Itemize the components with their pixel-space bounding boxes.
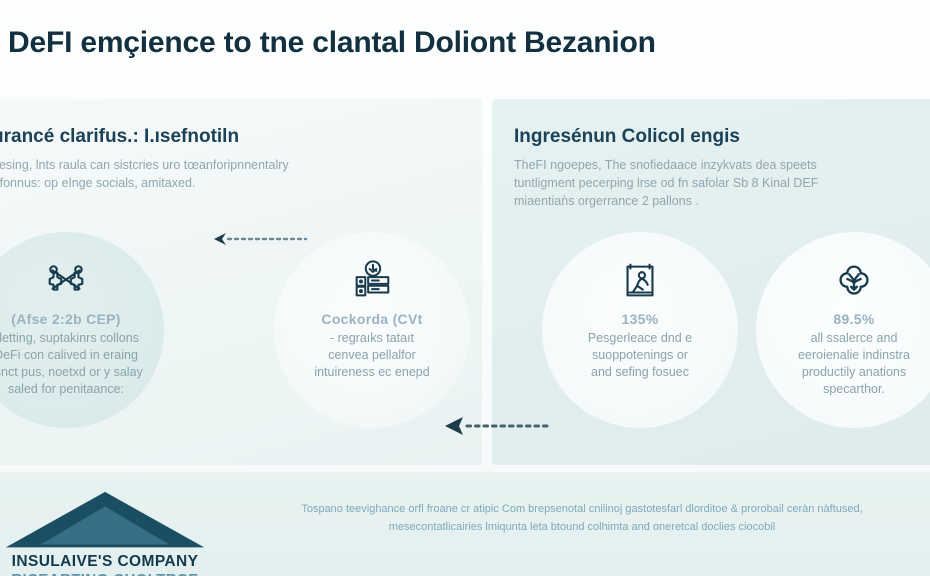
- card-text: cletting, suptakinrs collons DeFi con ca…: [0, 330, 179, 398]
- card-text-line4: saled for penitaance:: [8, 382, 124, 396]
- card-text-line2: eeroienalie indinstra: [798, 348, 910, 362]
- server-clock-icon: [349, 258, 395, 304]
- company-logo: INSULAIVE'S COMPANY RICEARTING CHOLTRCE …: [0, 489, 210, 576]
- right-panel-body-line3: miaentiaǹs orgerrance 2 pallons .: [514, 192, 916, 210]
- page-title: DeFI emçience to tne clantal Doliont Bez…: [8, 24, 908, 62]
- right-panel-body-line2: tuntligment pecerping lrse od fn safolar…: [514, 174, 916, 192]
- interlock-knot-icon: [831, 258, 877, 304]
- arrow-left-bottom: [443, 419, 555, 433]
- card-text-line2: DeFi con calived in eraing: [0, 348, 138, 362]
- card-text: all ssalerce and eeroienalie indinstra p…: [760, 330, 930, 398]
- card-text-line3: productily anations: [802, 365, 906, 379]
- right-panel-body-line1: TheFI ngoepes, The snofiedaace inzykvats…: [514, 156, 916, 174]
- card-text-line1: Pesgerleace dnd e: [588, 331, 692, 345]
- right-panel-body: TheFI ngoepes, The snofiedaace inzykvats…: [514, 156, 916, 210]
- card-text-line1: all ssalerce and: [811, 331, 898, 345]
- person-chart-icon: [617, 258, 663, 304]
- logo-company-name: INSULAIVE'S COMPANY: [0, 553, 210, 571]
- roof-triangle-icon: [0, 489, 210, 553]
- card-stat: Cockorda (CVt: [321, 310, 422, 328]
- card-crossed-keys[interactable]: (Afse 2:2b CEP) cletting, suptakinrs col…: [0, 232, 164, 428]
- left-panel-body-line1: gesing, lnts raula can sistcries uro tœa…: [0, 156, 412, 174]
- card-text-line1: - regraıks tataıt: [330, 331, 414, 345]
- right-panel: Ingresénun Colicol engis TheFI ngoepes, …: [492, 99, 930, 465]
- card-text: Pesgerleace dnd e suoppotenings or and s…: [533, 330, 747, 381]
- left-panel-body: gesing, lnts raula can sistcries uro tœa…: [0, 156, 412, 192]
- card-text-line2: suoppotenings or: [592, 348, 688, 362]
- card-text-line1: cletting, suptakinrs collons: [0, 331, 139, 345]
- logo-company-sub: RICEARTING CHOLTRCE: [0, 571, 210, 576]
- card-text: - regraıks tataıt cenvea pellalfor intui…: [265, 330, 479, 381]
- card-stat: (Afse 2:2b CEP): [11, 310, 121, 328]
- left-panel-body-line2: trfonnus: op eǀnge socials, amitaxed.: [0, 174, 412, 192]
- footer-disclaimer-line1: Tospano teevighance orfl froane cr atipi…: [301, 503, 862, 515]
- crossed-keys-icon: [43, 258, 89, 304]
- card-server-clock[interactable]: Cockorda (CVt - regraıks tataıt cenvea p…: [274, 232, 470, 428]
- arrow-left-top: [200, 232, 310, 246]
- footer-disclaimer: Tospano teevighance orfl froane cr atipi…: [232, 500, 930, 536]
- card-interlock-knot[interactable]: 89.5% all ssalerce and eeroienalie indin…: [756, 232, 930, 428]
- card-stat: 89.5%: [833, 310, 874, 328]
- card-text-line3: and sefing fosuec: [591, 365, 689, 379]
- infographic-canvas: DeFI emçience to tne clantal Doliont Bez…: [0, 0, 930, 576]
- right-panel-cards: 135% Pesgerleace dnd e suoppotenings or …: [492, 232, 930, 447]
- card-text-line4: specarthor.: [823, 382, 885, 396]
- card-person-chart[interactable]: 135% Pesgerleace dnd e suoppotenings or …: [542, 232, 738, 428]
- card-text-line3: intuireness ec enepd: [314, 365, 429, 379]
- footer-disclaimer-line2: mesecontatlicairies lmiqunta leta btound…: [232, 518, 930, 536]
- card-text-line3: iisnct pus, noetxd or y salay: [0, 365, 143, 379]
- footer: INSULAIVE'S COMPANY RICEARTING CHOLTRCE …: [0, 472, 930, 576]
- card-stat: 135%: [621, 310, 658, 328]
- left-panel-heading: urancé clarifus.: I.ısefnotiln: [0, 125, 460, 149]
- card-text-line2: cenvea pellalfor: [328, 348, 416, 362]
- left-panel-cards: (Afse 2:2b CEP) cletting, suptakinrs col…: [0, 232, 482, 447]
- right-panel-heading: Ingresénun Colicol engis: [514, 125, 916, 149]
- left-panel: urancé clarifus.: I.ısefnotiln gesing, l…: [0, 99, 482, 465]
